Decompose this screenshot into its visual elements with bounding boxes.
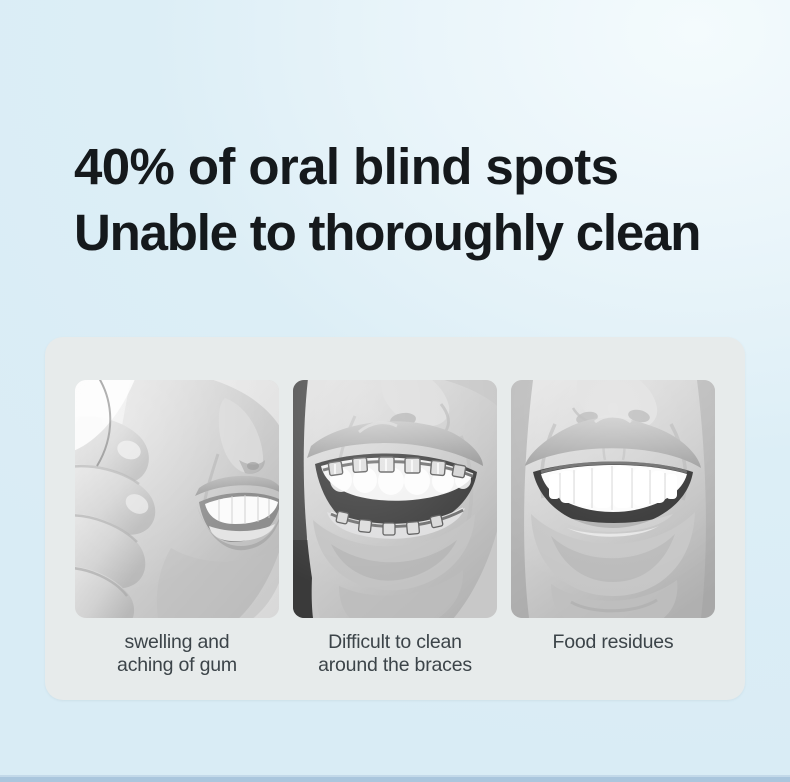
- problem-showcase-card: swelling and aching of gum Difficult to …: [45, 337, 745, 700]
- bottom-strip: [0, 777, 790, 782]
- photo-row: [75, 380, 715, 618]
- woman-holding-cheek-toothache-photo: [75, 380, 279, 618]
- mouth-with-metal-braces-photo: [293, 380, 497, 618]
- photo-caption-braces: Difficult to clean around the braces: [293, 631, 497, 677]
- photo-caption-food-residues: Food residues: [511, 631, 715, 677]
- caption-row: swelling and aching of gum Difficult to …: [75, 631, 715, 677]
- page-title: 40% of oral blind spots Unable to thorou…: [74, 134, 774, 266]
- photo-thumbnail-clean-smile: [511, 380, 715, 618]
- photo-thumbnail-braces: [293, 380, 497, 618]
- photo-caption-toothache: swelling and aching of gum: [75, 631, 279, 677]
- headline-line-2: Unable to thoroughly clean: [74, 200, 774, 266]
- photo-thumbnail-toothache: [75, 380, 279, 618]
- headline-line-1: 40% of oral blind spots: [74, 134, 774, 200]
- clean-white-smile-photo: [511, 380, 715, 618]
- page-background: 40% of oral blind spots Unable to thorou…: [0, 0, 790, 782]
